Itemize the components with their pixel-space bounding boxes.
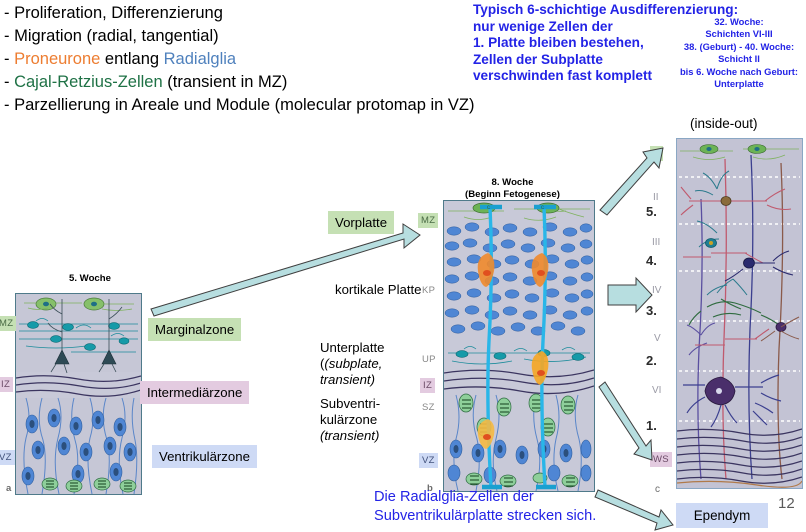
figure-caption-middle: 8. Woche (Beginn Fetogenese) [440,177,585,200]
zone-tag-ventrikulaerzone[interactable]: Ventrikulärzone [152,445,257,468]
order-number-1: 1. [646,418,657,433]
micrograph-panel-week5 [15,293,142,495]
order-number-5: 5. [646,204,657,219]
strip-label-iz-left: IZ [0,377,13,392]
zone-tag-marginalzone[interactable]: Marginalzone [148,318,241,341]
strip-label-sz-mid: SZ [419,400,438,415]
week5-diagram [16,294,141,494]
svg-text:c: c [541,205,544,211]
bullet-text: Migration (radial, tangential) [14,27,219,45]
blue-note-line: 1. Platte bleiben bestehen, [473,35,688,52]
strip-label-up-mid: UP [419,352,439,367]
bullet-text: Parzellierung in Areale und Module (mole… [14,96,474,114]
bullet-item-4: - Cajal-Retzius-Zellen (transient in MZ) [4,71,474,94]
bottom-note-line: Die Radialglia-Zellen der [374,488,624,507]
weeks-line: Unterplatte [672,78,806,90]
bullet-text-cajal: Cajal-Retzius-Zellen [14,73,163,91]
strip-label-vz-mid: VZ [419,453,438,468]
label-kortikale-platte: kortikale Platte [335,282,422,298]
unterplatte-line-1: Unterplatte [320,340,415,356]
strip-label-kp-mid: KP [419,283,438,298]
bottom-note-line: Subventrikulärplatte strecken sich. [374,507,624,526]
blue-note-line: Zellen der Subplatte [473,52,688,69]
strip-label-iz-mid: IZ [420,378,435,393]
caption-line-1: 8. Woche [440,177,585,189]
ependym-label-box[interactable]: Ependym [676,503,768,528]
bullet-dash: - [4,4,14,22]
bullet-dash: - [4,50,14,68]
bullet-text-transient: (transient in MZ) [163,73,288,91]
bullet-list: - Proliferation, Differenzierung - Migra… [4,2,474,117]
micrograph-panel-adult-cortex [676,138,803,489]
bullet-item-1: - Proliferation, Differenzierung [4,2,474,25]
strip-label-vz-left: VZ [0,450,15,465]
bullet-dash: - [4,27,14,45]
panel-letter-c: c [655,484,660,495]
blue-note-line: Typisch 6-schichtige Ausdifferenzierung: [473,2,688,19]
layer-label-VI: VI [652,385,661,396]
weeks-line: Schichten VI-III [672,28,806,40]
weeks-line: 32. Woche: [672,16,806,28]
page-number: 12 [778,495,795,512]
zone-tag-intermediaerzone[interactable]: Intermediärzone [140,381,249,404]
subvent-line-1: Subventri- [320,396,415,412]
arrow-marginalzone-to-vorplatte [151,224,420,316]
label-unterplatte: Unterplatte ((subplate, transient) [320,340,415,388]
bullet-text: Proliferation, Differenzierung [14,4,223,22]
layer-label-ws: WS [650,452,672,467]
blue-note-line: verschwinden fast komplett [473,68,688,85]
bullet-dash: - [4,73,14,91]
bullet-item-2: - Migration (radial, tangential) [4,25,474,48]
caption-line-2: (Beginn Fetogenese) [440,189,585,201]
blue-note-paragraph: Typisch 6-schichtige Ausdifferenzierung:… [473,2,688,85]
layer-label-III: III [652,237,660,248]
subvent-line-2: kulärzone [320,412,415,428]
unterplatte-line-3: transient) [320,372,415,388]
blue-note-line: nur wenige Zellen der [473,19,688,36]
order-number-2: 2. [646,353,657,368]
panel-letter-a: a [3,481,15,496]
weeks-line: 38. (Geburt) - 40. Woche: [672,41,806,53]
bullet-text-radialglia: Radialglia [164,50,236,68]
inside-out-caption: (inside-out) [690,116,758,131]
bullet-dash: - [4,96,14,114]
week8-diagram: cc [444,201,594,491]
label-subventrikulaerzone: Subventri- kulärzone (transient) [320,396,415,444]
bullet-text-proneurone: Proneurone [14,50,100,68]
weeks-line: bis 6. Woche nach Geburt: [672,66,806,78]
bullet-item-3: - Proneurone entlang Radialglia [4,48,474,71]
label-vorplatte[interactable]: Vorplatte [328,211,394,234]
bullet-text-entlang: entlang [100,50,163,68]
layer-label-I: I [650,146,663,161]
weeks-line: Schicht II [672,53,806,65]
strip-label-mz-mid: MZ [418,213,438,228]
order-number-4: 4. [646,253,657,268]
figure-caption-left: 5. Woche [40,273,140,285]
bottom-note-paragraph: Die Radialglia-Zellen der Subventrikulär… [374,488,624,526]
arrow-mid-to-white-matter [599,382,652,460]
layer-label-II: II [653,192,659,203]
order-number-3: 3. [646,303,657,318]
layer-label-IV: IV [652,285,661,296]
subvent-line-3: (transient) [320,428,415,444]
weeks-schedule-note: 32. Woche: Schichten VI-III 38. (Geburt)… [672,16,806,90]
adult-cortex-diagram [677,139,802,488]
bullet-item-5: - Parzellierung in Areale und Module (mo… [4,94,474,117]
strip-label-mz-left: MZ [0,316,16,331]
svg-text:c: c [487,205,490,211]
micrograph-panel-week8: cc [443,200,595,492]
unterplatte-line-2: ((subplate, [320,356,415,372]
layer-label-V: V [654,333,661,344]
